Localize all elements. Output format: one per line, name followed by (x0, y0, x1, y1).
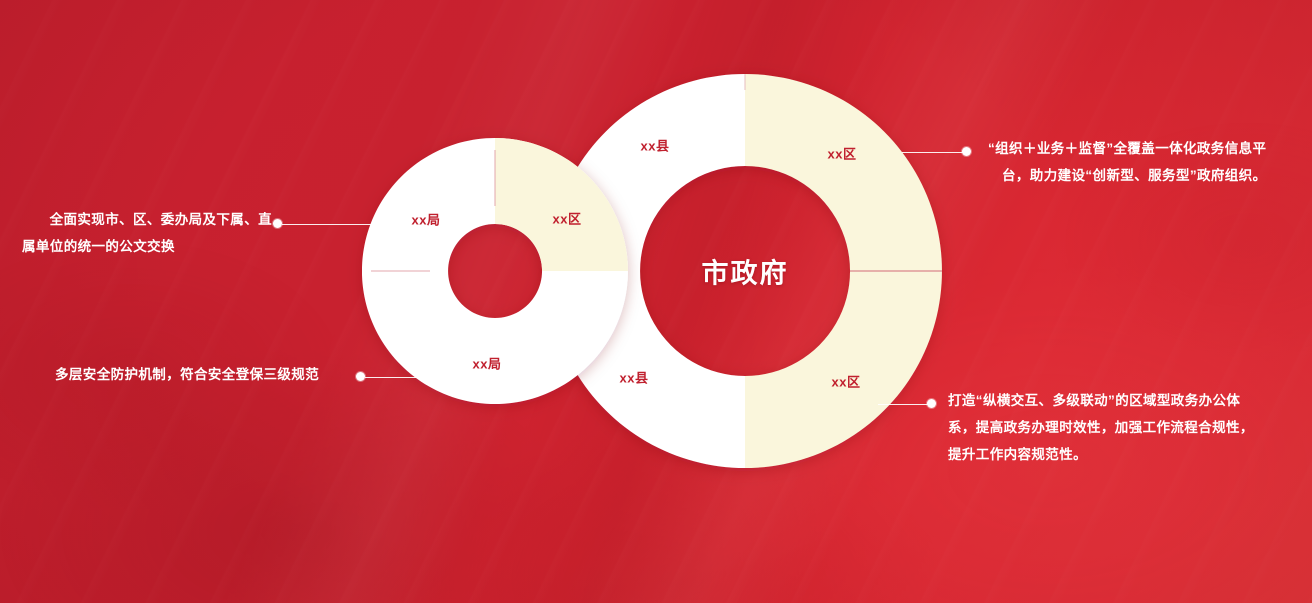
large-ring-label-3: xx县 (620, 368, 649, 387)
small-ring-label-3: xx局 (473, 354, 502, 373)
large-ring-label-2: xx区 (828, 144, 857, 163)
callout-security-line-1: 多层安全防护机制，符合安全登保三级规范 (55, 366, 350, 385)
small-ring-label-1: xx局 (412, 210, 441, 229)
small-ring-label-2: xx区 (553, 209, 582, 228)
large-ring-label-4: xx区 (832, 372, 861, 391)
callout-unified-exchange: 全面实现市、区、委办局及下属、直 属单位的统一的公文交换 (22, 206, 272, 260)
callout-leader-right-bottom (878, 404, 930, 405)
callout-dot-right-bottom (927, 399, 936, 408)
callout-regional-system-line-1: 打造“纵横交互、多级联动”的区域型政务办公体 (948, 387, 1278, 414)
callout-unified-exchange-line-2: 属单位的统一的公文交换 (22, 233, 272, 260)
center-label-city-government: 市政府 (702, 252, 789, 291)
callout-regional-system-line-3: 提升工作内容规范性。 (948, 441, 1278, 468)
callout-unified-exchange-line-1: 全面实现市、区、委办局及下属、直 (22, 206, 272, 233)
callout-regional-system: 打造“纵横交互、多级联动”的区域型政务办公体 系，提高政务办理时效性，加强工作流… (948, 387, 1278, 468)
small-ring-segment-upper-right (495, 138, 628, 271)
infographic-canvas: xx局 xx区 xx局 xx县 xx区 xx县 xx区 市政府 全面实现市、区、… (0, 0, 1312, 603)
callout-dot-right-top (962, 147, 971, 156)
callout-security: 多层安全防护机制，符合安全登保三级规范 (55, 366, 350, 385)
large-ring-label-1: xx县 (641, 136, 670, 155)
callout-platform-line-1: “组织＋业务＋监督”全覆盖一体化政务信息平 (988, 135, 1288, 162)
callout-dot-left-bottom (356, 372, 365, 381)
callout-leader-left-bottom (365, 377, 417, 378)
callout-dot-left-top (273, 219, 282, 228)
callout-platform: “组织＋业务＋监督”全覆盖一体化政务信息平 台，助力建设“创新型、服务型”政府组… (988, 135, 1288, 189)
callout-platform-line-2: 台，助力建设“创新型、服务型”政府组织。 (988, 162, 1288, 189)
callout-regional-system-line-2: 系，提高政务办理时效性，加强工作流程合规性， (948, 414, 1278, 441)
callout-leader-left-top (282, 224, 373, 225)
callout-leader-right-top (902, 152, 964, 153)
